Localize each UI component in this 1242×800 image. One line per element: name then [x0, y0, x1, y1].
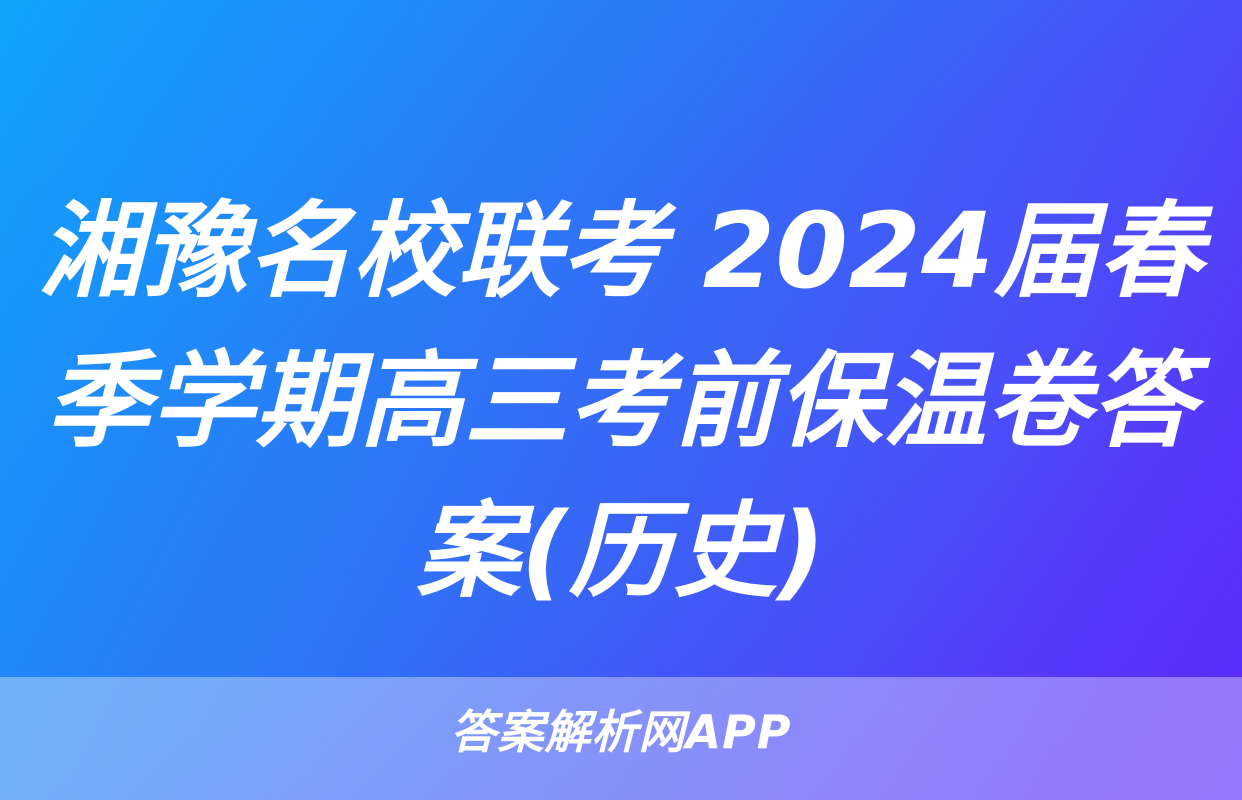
title-line-3: 案(历史) — [34, 476, 1208, 626]
title-line-2: 季学期高三考前保温卷答 — [34, 326, 1208, 476]
watermark: 答案解析网APP — [0, 704, 1242, 760]
title-line-1: 湘豫名校联考 2024届春 — [34, 176, 1208, 326]
watermark-app-name: 答案解析网APP — [450, 704, 791, 760]
poster-canvas: 湘豫名校联考 2024届春 季学期高三考前保温卷答 案(历史) 答案解析网APP — [0, 0, 1242, 800]
page-title: 湘豫名校联考 2024届春 季学期高三考前保温卷答 案(历史) — [0, 176, 1242, 626]
